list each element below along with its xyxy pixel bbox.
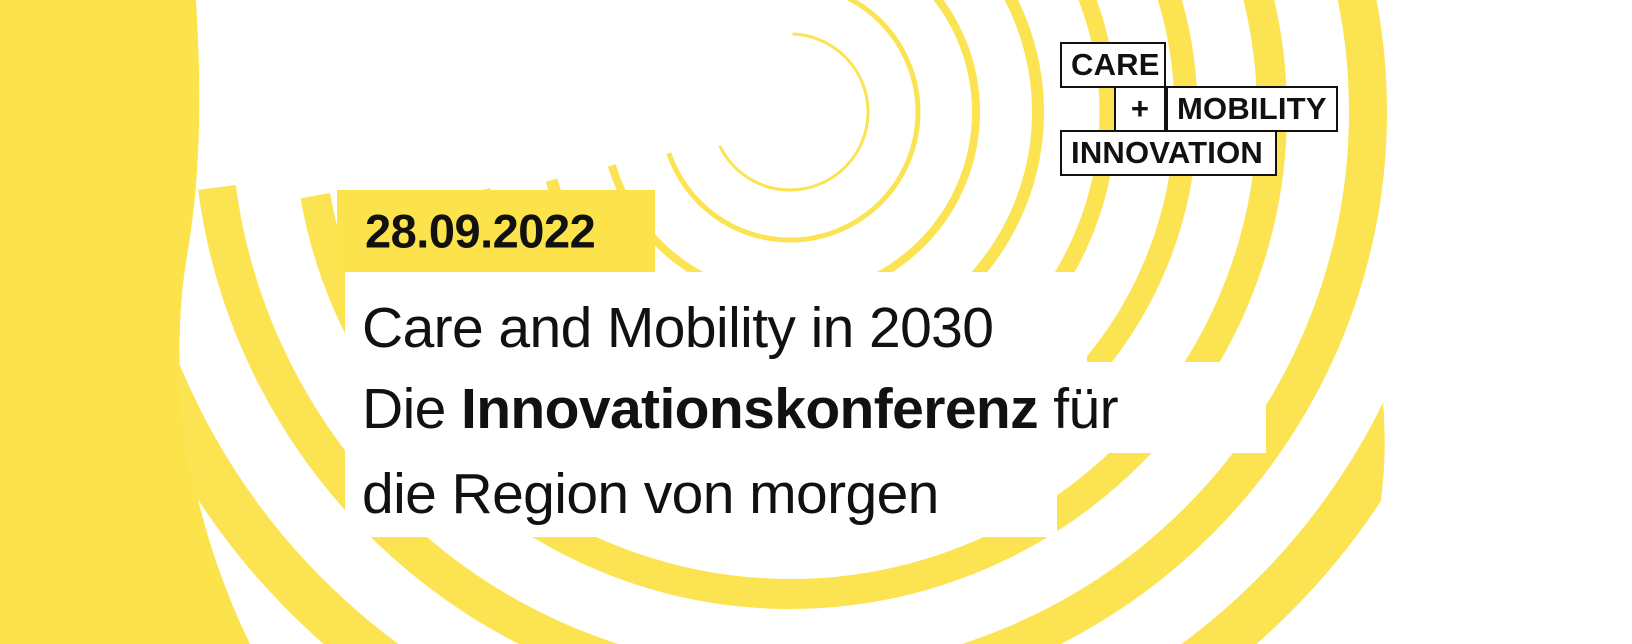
headline-line-2-emphasis: Innovationskonferenz	[461, 377, 1038, 441]
headline-line-1: Care and Mobility in 2030	[362, 300, 993, 357]
headline-line-2-prefix: Die	[362, 377, 461, 441]
headline-line-1-text: Care and Mobility in 2030	[362, 296, 993, 360]
headline-line-3: die Region von morgen	[362, 466, 939, 523]
conference-banner: 28.09.2022 Care and Mobility in 2030 Die…	[0, 0, 1632, 644]
logo-innovation-text: INNOVATION	[1071, 135, 1263, 171]
date-badge: 28.09.2022	[337, 190, 655, 272]
logo-care-text: CARE	[1071, 47, 1160, 83]
logo-mobility-text: MOBILITY	[1177, 91, 1327, 127]
headline-line-3-text: die Region von morgen	[362, 462, 939, 526]
logo-box-plus: +	[1114, 86, 1166, 132]
headline-line-2: Die Innovationskonferenz für	[362, 381, 1118, 438]
headline-line-2-suffix: für	[1038, 377, 1118, 441]
logo-box-innovation: INNOVATION	[1060, 130, 1277, 176]
logo-box-care: CARE	[1060, 42, 1166, 88]
logo-plus-text: +	[1131, 91, 1149, 127]
logo-box-mobility: MOBILITY	[1166, 86, 1338, 132]
date-text: 28.09.2022	[365, 208, 595, 255]
